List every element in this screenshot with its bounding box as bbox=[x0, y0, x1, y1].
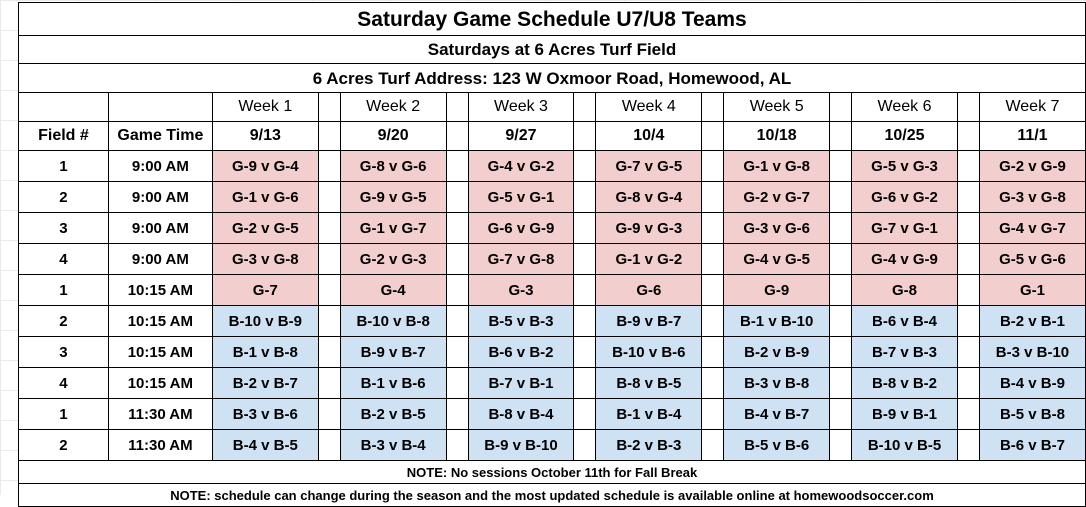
matchup-cell[interactable]: G-6 v G-9 bbox=[468, 213, 574, 244]
week-date-2[interactable]: 9/20 bbox=[340, 122, 446, 151]
matchup-cell[interactable]: G-1 v G-8 bbox=[724, 151, 830, 182]
spacer-column bbox=[574, 122, 596, 151]
spacer-column bbox=[957, 368, 979, 399]
field-number: 1 bbox=[19, 275, 109, 306]
table-row: 310:15 AMB-1 v B-8B-9 v B-7B-6 v B-2B-10… bbox=[19, 337, 1086, 368]
matchup-cell[interactable]: G-8 v G-6 bbox=[340, 151, 446, 182]
spacer-column bbox=[318, 275, 340, 306]
game-time: 11:30 AM bbox=[108, 430, 212, 461]
matchup-cell[interactable]: G-9 v G-4 bbox=[212, 151, 318, 182]
matchup-cell[interactable]: G-4 v G-5 bbox=[724, 244, 830, 275]
matchup-cell[interactable]: G-4 v G-7 bbox=[979, 213, 1085, 244]
matchup-cell[interactable]: B-8 v B-2 bbox=[852, 368, 958, 399]
matchup-cell[interactable]: B-2 v B-3 bbox=[596, 430, 702, 461]
spacer-column bbox=[957, 430, 979, 461]
matchup-cell[interactable]: B-10 v B-9 bbox=[212, 306, 318, 337]
spacer-column bbox=[957, 399, 979, 430]
game-time: 10:15 AM bbox=[108, 368, 212, 399]
spacer-column bbox=[702, 93, 724, 122]
spacer-column bbox=[702, 151, 724, 182]
matchup-cell[interactable]: G-1 bbox=[979, 275, 1085, 306]
field-number: 3 bbox=[19, 337, 109, 368]
title-row-address: 6 Acres Turf Address: 123 W Oxmoor Road,… bbox=[19, 64, 1086, 93]
week-header-row: Week 1Week 2Week 3Week 4Week 5Week 6Week… bbox=[19, 93, 1086, 122]
matchup-cell[interactable]: G-8 v G-4 bbox=[596, 182, 702, 213]
matchup-cell[interactable]: B-4 v B-9 bbox=[979, 368, 1085, 399]
spacer-column bbox=[830, 244, 852, 275]
matchup-cell[interactable]: B-2 v B-9 bbox=[724, 337, 830, 368]
spacer-column bbox=[702, 337, 724, 368]
footer-note-2: NOTE: schedule can change during the sea… bbox=[19, 484, 1086, 507]
spacer-column bbox=[957, 151, 979, 182]
spreadsheet-canvas: Saturday Game Schedule U7/U8 TeamsSaturd… bbox=[0, 0, 1086, 495]
spacer-column bbox=[574, 182, 596, 213]
week-date-7[interactable]: 11/1 bbox=[979, 122, 1085, 151]
field-number: 2 bbox=[19, 430, 109, 461]
spacer-column bbox=[830, 399, 852, 430]
game-time: 9:00 AM bbox=[108, 244, 212, 275]
matchup-cell[interactable]: B-4 v B-7 bbox=[724, 399, 830, 430]
matchup-cell[interactable]: B-7 v B-3 bbox=[852, 337, 958, 368]
week-header-time-spacer bbox=[108, 93, 212, 122]
matchup-cell[interactable]: G-2 v G-5 bbox=[212, 213, 318, 244]
spacer-column bbox=[830, 93, 852, 122]
venue-subtitle: Saturdays at 6 Acres Turf Field bbox=[19, 36, 1086, 64]
matchup-cell[interactable]: B-3 v B-8 bbox=[724, 368, 830, 399]
matchup-cell[interactable]: B-4 v B-5 bbox=[212, 430, 318, 461]
spacer-column bbox=[957, 182, 979, 213]
matchup-cell[interactable]: B-9 v B-10 bbox=[468, 430, 574, 461]
spacer-column bbox=[830, 306, 852, 337]
matchup-cell[interactable]: G-7 v G-8 bbox=[468, 244, 574, 275]
matchup-cell[interactable]: G-2 v G-3 bbox=[340, 244, 446, 275]
schedule-body: Saturday Game Schedule U7/U8 TeamsSaturd… bbox=[19, 3, 1086, 507]
table-row: 211:30 AMB-4 v B-5B-3 v B-4B-9 v B-10B-2… bbox=[19, 430, 1086, 461]
table-row: 29:00 AMG-1 v G-6G-9 v G-5G-5 v G-1G-8 v… bbox=[19, 182, 1086, 213]
matchup-cell[interactable]: B-9 v B-1 bbox=[852, 399, 958, 430]
spacer-column bbox=[574, 368, 596, 399]
spacer-column bbox=[830, 368, 852, 399]
matchup-cell[interactable]: B-6 v B-2 bbox=[468, 337, 574, 368]
matchup-cell[interactable]: B-2 v B-7 bbox=[212, 368, 318, 399]
matchup-cell[interactable]: B-5 v B-8 bbox=[979, 399, 1085, 430]
spacer-column bbox=[702, 182, 724, 213]
table-row: 39:00 AMG-2 v G-5G-1 v G-7G-6 v G-9G-9 v… bbox=[19, 213, 1086, 244]
spacer-column bbox=[702, 275, 724, 306]
matchup-cell[interactable]: G-4 bbox=[340, 275, 446, 306]
matchup-cell[interactable]: B-3 v B-4 bbox=[340, 430, 446, 461]
game-schedule-table: Saturday Game Schedule U7/U8 TeamsSaturd… bbox=[18, 2, 1086, 507]
spacer-column bbox=[318, 430, 340, 461]
spacer-column bbox=[830, 275, 852, 306]
matchup-cell[interactable]: B-10 v B-5 bbox=[852, 430, 958, 461]
matchup-cell[interactable]: B-10 v B-8 bbox=[340, 306, 446, 337]
spacer-column bbox=[446, 430, 468, 461]
spacer-column bbox=[957, 213, 979, 244]
spacer-column bbox=[830, 430, 852, 461]
spacer-column bbox=[446, 244, 468, 275]
week-header-7[interactable]: Week 7 bbox=[979, 93, 1085, 122]
table-row: 111:30 AMB-3 v B-6B-2 v B-5B-8 v B-4B-1 … bbox=[19, 399, 1086, 430]
matchup-cell[interactable]: G-1 v G-6 bbox=[212, 182, 318, 213]
matchup-cell[interactable]: G-3 v G-8 bbox=[212, 244, 318, 275]
week-header-6[interactable]: Week 6 bbox=[852, 93, 958, 122]
spacer-column bbox=[702, 213, 724, 244]
spacer-column bbox=[574, 399, 596, 430]
week-date-3[interactable]: 9/27 bbox=[468, 122, 574, 151]
spacer-column bbox=[702, 399, 724, 430]
matchup-cell[interactable]: G-9 v G-3 bbox=[596, 213, 702, 244]
table-row: 49:00 AMG-3 v G-8G-2 v G-3G-7 v G-8G-1 v… bbox=[19, 244, 1086, 275]
matchup-cell[interactable]: G-6 v G-2 bbox=[852, 182, 958, 213]
spacer-column bbox=[702, 368, 724, 399]
table-row: 19:00 AMG-9 v G-4G-8 v G-6G-4 v G-2G-7 v… bbox=[19, 151, 1086, 182]
week-header-3[interactable]: Week 3 bbox=[468, 93, 574, 122]
note-row: NOTE: schedule can change during the sea… bbox=[19, 484, 1086, 507]
matchup-cell[interactable]: B-9 v B-7 bbox=[340, 337, 446, 368]
field-number: 4 bbox=[19, 244, 109, 275]
spacer-column bbox=[574, 151, 596, 182]
spacer-column bbox=[318, 151, 340, 182]
matchup-cell[interactable]: B-5 v B-6 bbox=[724, 430, 830, 461]
table-row: 410:15 AMB-2 v B-7B-1 v B-6B-7 v B-1B-8 … bbox=[19, 368, 1086, 399]
week-header-field-spacer bbox=[19, 93, 109, 122]
spacer-column bbox=[318, 213, 340, 244]
matchup-cell[interactable]: G-3 v G-6 bbox=[724, 213, 830, 244]
matchup-cell[interactable]: G-3 v G-8 bbox=[979, 182, 1085, 213]
venue-address: 6 Acres Turf Address: 123 W Oxmoor Road,… bbox=[19, 64, 1086, 93]
spacer-column bbox=[702, 430, 724, 461]
spacer-column bbox=[446, 306, 468, 337]
spacer-column bbox=[318, 399, 340, 430]
matchup-cell[interactable]: G-7 v G-1 bbox=[852, 213, 958, 244]
matchup-cell[interactable]: G-5 v G-3 bbox=[852, 151, 958, 182]
matchup-cell[interactable]: B-2 v B-5 bbox=[340, 399, 446, 430]
game-time: 9:00 AM bbox=[108, 151, 212, 182]
footer-note-1: NOTE: No sessions October 11th for Fall … bbox=[19, 461, 1086, 484]
spacer-column bbox=[702, 122, 724, 151]
spacer-column bbox=[702, 306, 724, 337]
spacer-column bbox=[318, 368, 340, 399]
title-row-venue: Saturdays at 6 Acres Turf Field bbox=[19, 36, 1086, 64]
spacer-column bbox=[446, 275, 468, 306]
matchup-cell[interactable]: G-1 v G-7 bbox=[340, 213, 446, 244]
week-date-6[interactable]: 10/25 bbox=[852, 122, 958, 151]
week-header-2[interactable]: Week 2 bbox=[340, 93, 446, 122]
week-header-5[interactable]: Week 5 bbox=[724, 93, 830, 122]
field-number: 1 bbox=[19, 151, 109, 182]
matchup-cell[interactable]: G-3 bbox=[468, 275, 574, 306]
matchup-cell[interactable]: G-8 bbox=[852, 275, 958, 306]
spacer-column bbox=[957, 275, 979, 306]
spacer-column bbox=[318, 182, 340, 213]
matchup-cell[interactable]: G-2 v G-7 bbox=[724, 182, 830, 213]
spacer-column bbox=[446, 182, 468, 213]
field-column-header: Field # bbox=[19, 122, 109, 151]
title-row-main: Saturday Game Schedule U7/U8 Teams bbox=[19, 3, 1086, 36]
spacer-column bbox=[574, 430, 596, 461]
week-header-1[interactable]: Week 1 bbox=[212, 93, 318, 122]
matchup-cell[interactable]: G-1 v G-2 bbox=[596, 244, 702, 275]
week-header-4[interactable]: Week 4 bbox=[596, 93, 702, 122]
week-date-1[interactable]: 9/13 bbox=[212, 122, 318, 151]
spacer-column bbox=[574, 275, 596, 306]
field-number: 4 bbox=[19, 368, 109, 399]
week-date-4[interactable]: 10/4 bbox=[596, 122, 702, 151]
field-number: 1 bbox=[19, 399, 109, 430]
game-time: 10:15 AM bbox=[108, 275, 212, 306]
matchup-cell[interactable]: B-1 v B-6 bbox=[340, 368, 446, 399]
field-number: 2 bbox=[19, 306, 109, 337]
spacer-column bbox=[574, 93, 596, 122]
matchup-cell[interactable]: G-4 v G-2 bbox=[468, 151, 574, 182]
time-column-header: Game Time bbox=[108, 122, 212, 151]
field-number: 3 bbox=[19, 213, 109, 244]
game-time: 9:00 AM bbox=[108, 182, 212, 213]
matchup-cell[interactable]: G-7 bbox=[212, 275, 318, 306]
table-row: 210:15 AMB-10 v B-9B-10 v B-8B-5 v B-3B-… bbox=[19, 306, 1086, 337]
spacer-column bbox=[830, 122, 852, 151]
page-title: Saturday Game Schedule U7/U8 Teams bbox=[19, 3, 1086, 36]
matchup-cell[interactable]: G-2 v G-9 bbox=[979, 151, 1085, 182]
game-time: 10:15 AM bbox=[108, 337, 212, 368]
matchup-cell[interactable]: B-1 v B-8 bbox=[212, 337, 318, 368]
matchup-cell[interactable]: B-3 v B-6 bbox=[212, 399, 318, 430]
spacer-column bbox=[957, 122, 979, 151]
game-time: 10:15 AM bbox=[108, 306, 212, 337]
matchup-cell[interactable]: G-4 v G-9 bbox=[852, 244, 958, 275]
spacer-column bbox=[318, 244, 340, 275]
spacer-column bbox=[830, 182, 852, 213]
matchup-cell[interactable]: B-6 v B-4 bbox=[852, 306, 958, 337]
matchup-cell[interactable]: B-1 v B-4 bbox=[596, 399, 702, 430]
spacer-column bbox=[446, 93, 468, 122]
matchup-cell[interactable]: G-6 bbox=[596, 275, 702, 306]
matchup-cell[interactable]: B-7 v B-1 bbox=[468, 368, 574, 399]
matchup-cell[interactable]: G-5 v G-1 bbox=[468, 182, 574, 213]
spacer-column bbox=[318, 93, 340, 122]
game-time: 9:00 AM bbox=[108, 213, 212, 244]
matchup-cell[interactable]: G-7 v G-5 bbox=[596, 151, 702, 182]
spacer-column bbox=[574, 306, 596, 337]
matchup-cell[interactable]: B-2 v B-1 bbox=[979, 306, 1085, 337]
game-time: 11:30 AM bbox=[108, 399, 212, 430]
spacer-column bbox=[830, 213, 852, 244]
matchup-cell[interactable]: G-9 v G-5 bbox=[340, 182, 446, 213]
spacer-column bbox=[957, 244, 979, 275]
spacer-column bbox=[446, 368, 468, 399]
matchup-cell[interactable]: B-1 v B-10 bbox=[724, 306, 830, 337]
matchup-cell[interactable]: B-6 v B-7 bbox=[979, 430, 1085, 461]
table-row: 110:15 AMG-7G-4G-3G-6G-9G-8G-1 bbox=[19, 275, 1086, 306]
spacer-column bbox=[318, 337, 340, 368]
spacer-column bbox=[574, 213, 596, 244]
note-row: NOTE: No sessions October 11th for Fall … bbox=[19, 461, 1086, 484]
spacer-column bbox=[957, 93, 979, 122]
spacer-column bbox=[446, 399, 468, 430]
spacer-column bbox=[446, 151, 468, 182]
spacer-column bbox=[318, 122, 340, 151]
spacer-column bbox=[446, 337, 468, 368]
spacer-column bbox=[702, 244, 724, 275]
field-number: 2 bbox=[19, 182, 109, 213]
spacer-column bbox=[957, 306, 979, 337]
matchup-cell[interactable]: B-8 v B-4 bbox=[468, 399, 574, 430]
spacer-column bbox=[318, 306, 340, 337]
matchup-cell[interactable]: B-5 v B-3 bbox=[468, 306, 574, 337]
spacer-column bbox=[957, 337, 979, 368]
spacer-column bbox=[574, 337, 596, 368]
spacer-column bbox=[574, 244, 596, 275]
spacer-column bbox=[446, 122, 468, 151]
spacer-column bbox=[830, 337, 852, 368]
matchup-cell[interactable]: B-3 v B-10 bbox=[979, 337, 1085, 368]
date-header-row: Field #Game Time9/139/209/2710/410/1810/… bbox=[19, 122, 1086, 151]
spacer-column bbox=[830, 151, 852, 182]
spacer-column bbox=[446, 213, 468, 244]
matchup-cell[interactable]: G-9 bbox=[724, 275, 830, 306]
matchup-cell[interactable]: B-10 v B-6 bbox=[596, 337, 702, 368]
matchup-cell[interactable]: G-5 v G-6 bbox=[979, 244, 1085, 275]
matchup-cell[interactable]: B-9 v B-7 bbox=[596, 306, 702, 337]
matchup-cell[interactable]: B-8 v B-5 bbox=[596, 368, 702, 399]
week-date-5[interactable]: 10/18 bbox=[724, 122, 830, 151]
